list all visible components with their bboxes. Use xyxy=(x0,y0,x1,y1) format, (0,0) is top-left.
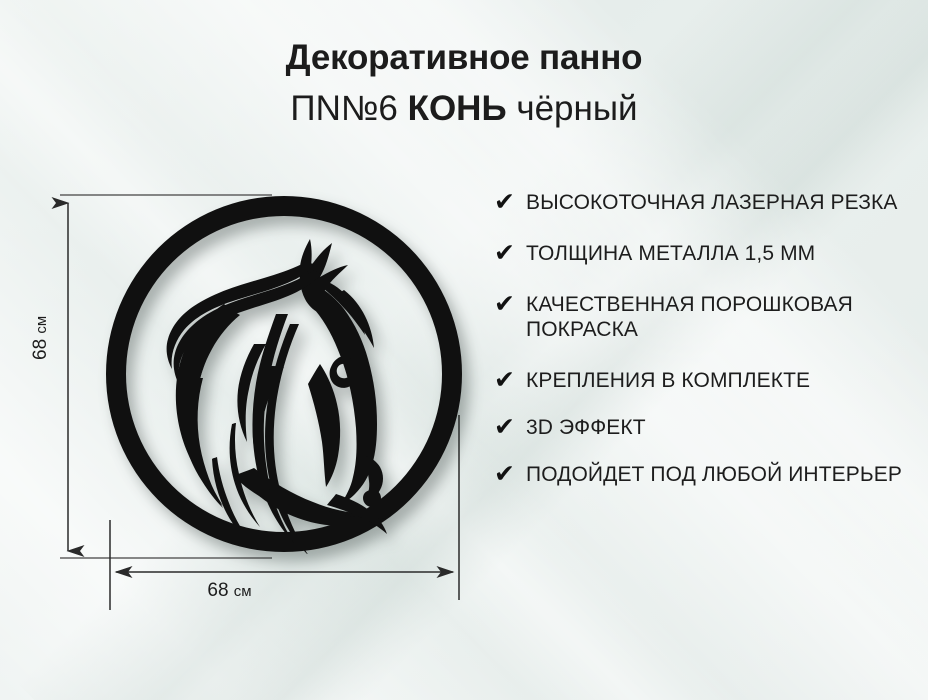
feature-item: ✔ КРЕПЛЕНИЯ В КОМПЛЕКТЕ xyxy=(494,368,914,393)
height-value: 68 xyxy=(30,339,51,360)
feature-list: ✔ ВЫСОКОТОЧНАЯ ЛАЗЕРНАЯ РЕЗКА ✔ ТОЛЩИНА … xyxy=(494,190,914,513)
horse-nostril xyxy=(363,490,381,507)
subtitle-color: чёрный xyxy=(507,89,638,128)
feature-label: КРЕПЛЕНИЯ В КОМПЛЕКТЕ xyxy=(526,368,810,393)
feature-item: ✔ ТОЛЩИНА МЕТАЛЛА 1,5 ММ xyxy=(494,241,914,266)
width-dimension-label: 68 см xyxy=(0,580,459,602)
feature-item: ✔ ВЫСОКОТОЧНАЯ ЛАЗЕРНАЯ РЕЗКА xyxy=(494,190,914,215)
check-icon: ✔ xyxy=(494,415,526,439)
feature-label: ТОЛЩИНА МЕТАЛЛА 1,5 ММ xyxy=(526,241,815,266)
title-block: Декоративное панно ПN№6 КОНЬ чёрный xyxy=(0,40,928,128)
feature-item: ✔ 3D ЭФФЕКТ xyxy=(494,415,914,440)
infographic-canvas: Декоративное панно ПN№6 КОНЬ чёрный xyxy=(0,0,928,700)
check-icon: ✔ xyxy=(494,368,526,392)
check-icon: ✔ xyxy=(494,462,526,486)
height-dimension-label: 68 см xyxy=(30,316,52,360)
check-icon: ✔ xyxy=(494,292,526,316)
feature-label: ПОДОЙДЕТ ПОД ЛЮБОЙ ИНТЕРЬЕР xyxy=(526,462,902,487)
product-subtitle: ПN№6 КОНЬ чёрный xyxy=(0,91,928,128)
check-icon: ✔ xyxy=(494,190,526,214)
feature-label: КАЧЕСТВЕННАЯ ПОРОШКОВАЯ ПОКРАСКА xyxy=(526,292,914,342)
feature-item: ✔ ПОДОЙДЕТ ПОД ЛЮБОЙ ИНТЕРЬЕР xyxy=(494,462,914,487)
width-unit: см xyxy=(234,583,252,600)
page-title: Декоративное панно xyxy=(0,40,928,77)
feature-label: 3D ЭФФЕКТ xyxy=(526,415,646,440)
width-value: 68 xyxy=(207,580,228,601)
feature-label: ВЫСОКОТОЧНАЯ ЛАЗЕРНАЯ РЕЗКА xyxy=(526,190,898,215)
horse-head-circle-panel xyxy=(104,194,464,554)
feature-item: ✔ КАЧЕСТВЕННАЯ ПОРОШКОВАЯ ПОКРАСКА xyxy=(494,292,914,342)
check-icon: ✔ xyxy=(494,241,526,265)
height-unit: см xyxy=(33,316,50,334)
subtitle-model: ПN№6 xyxy=(290,89,407,128)
subtitle-product-name: КОНЬ xyxy=(408,89,507,128)
